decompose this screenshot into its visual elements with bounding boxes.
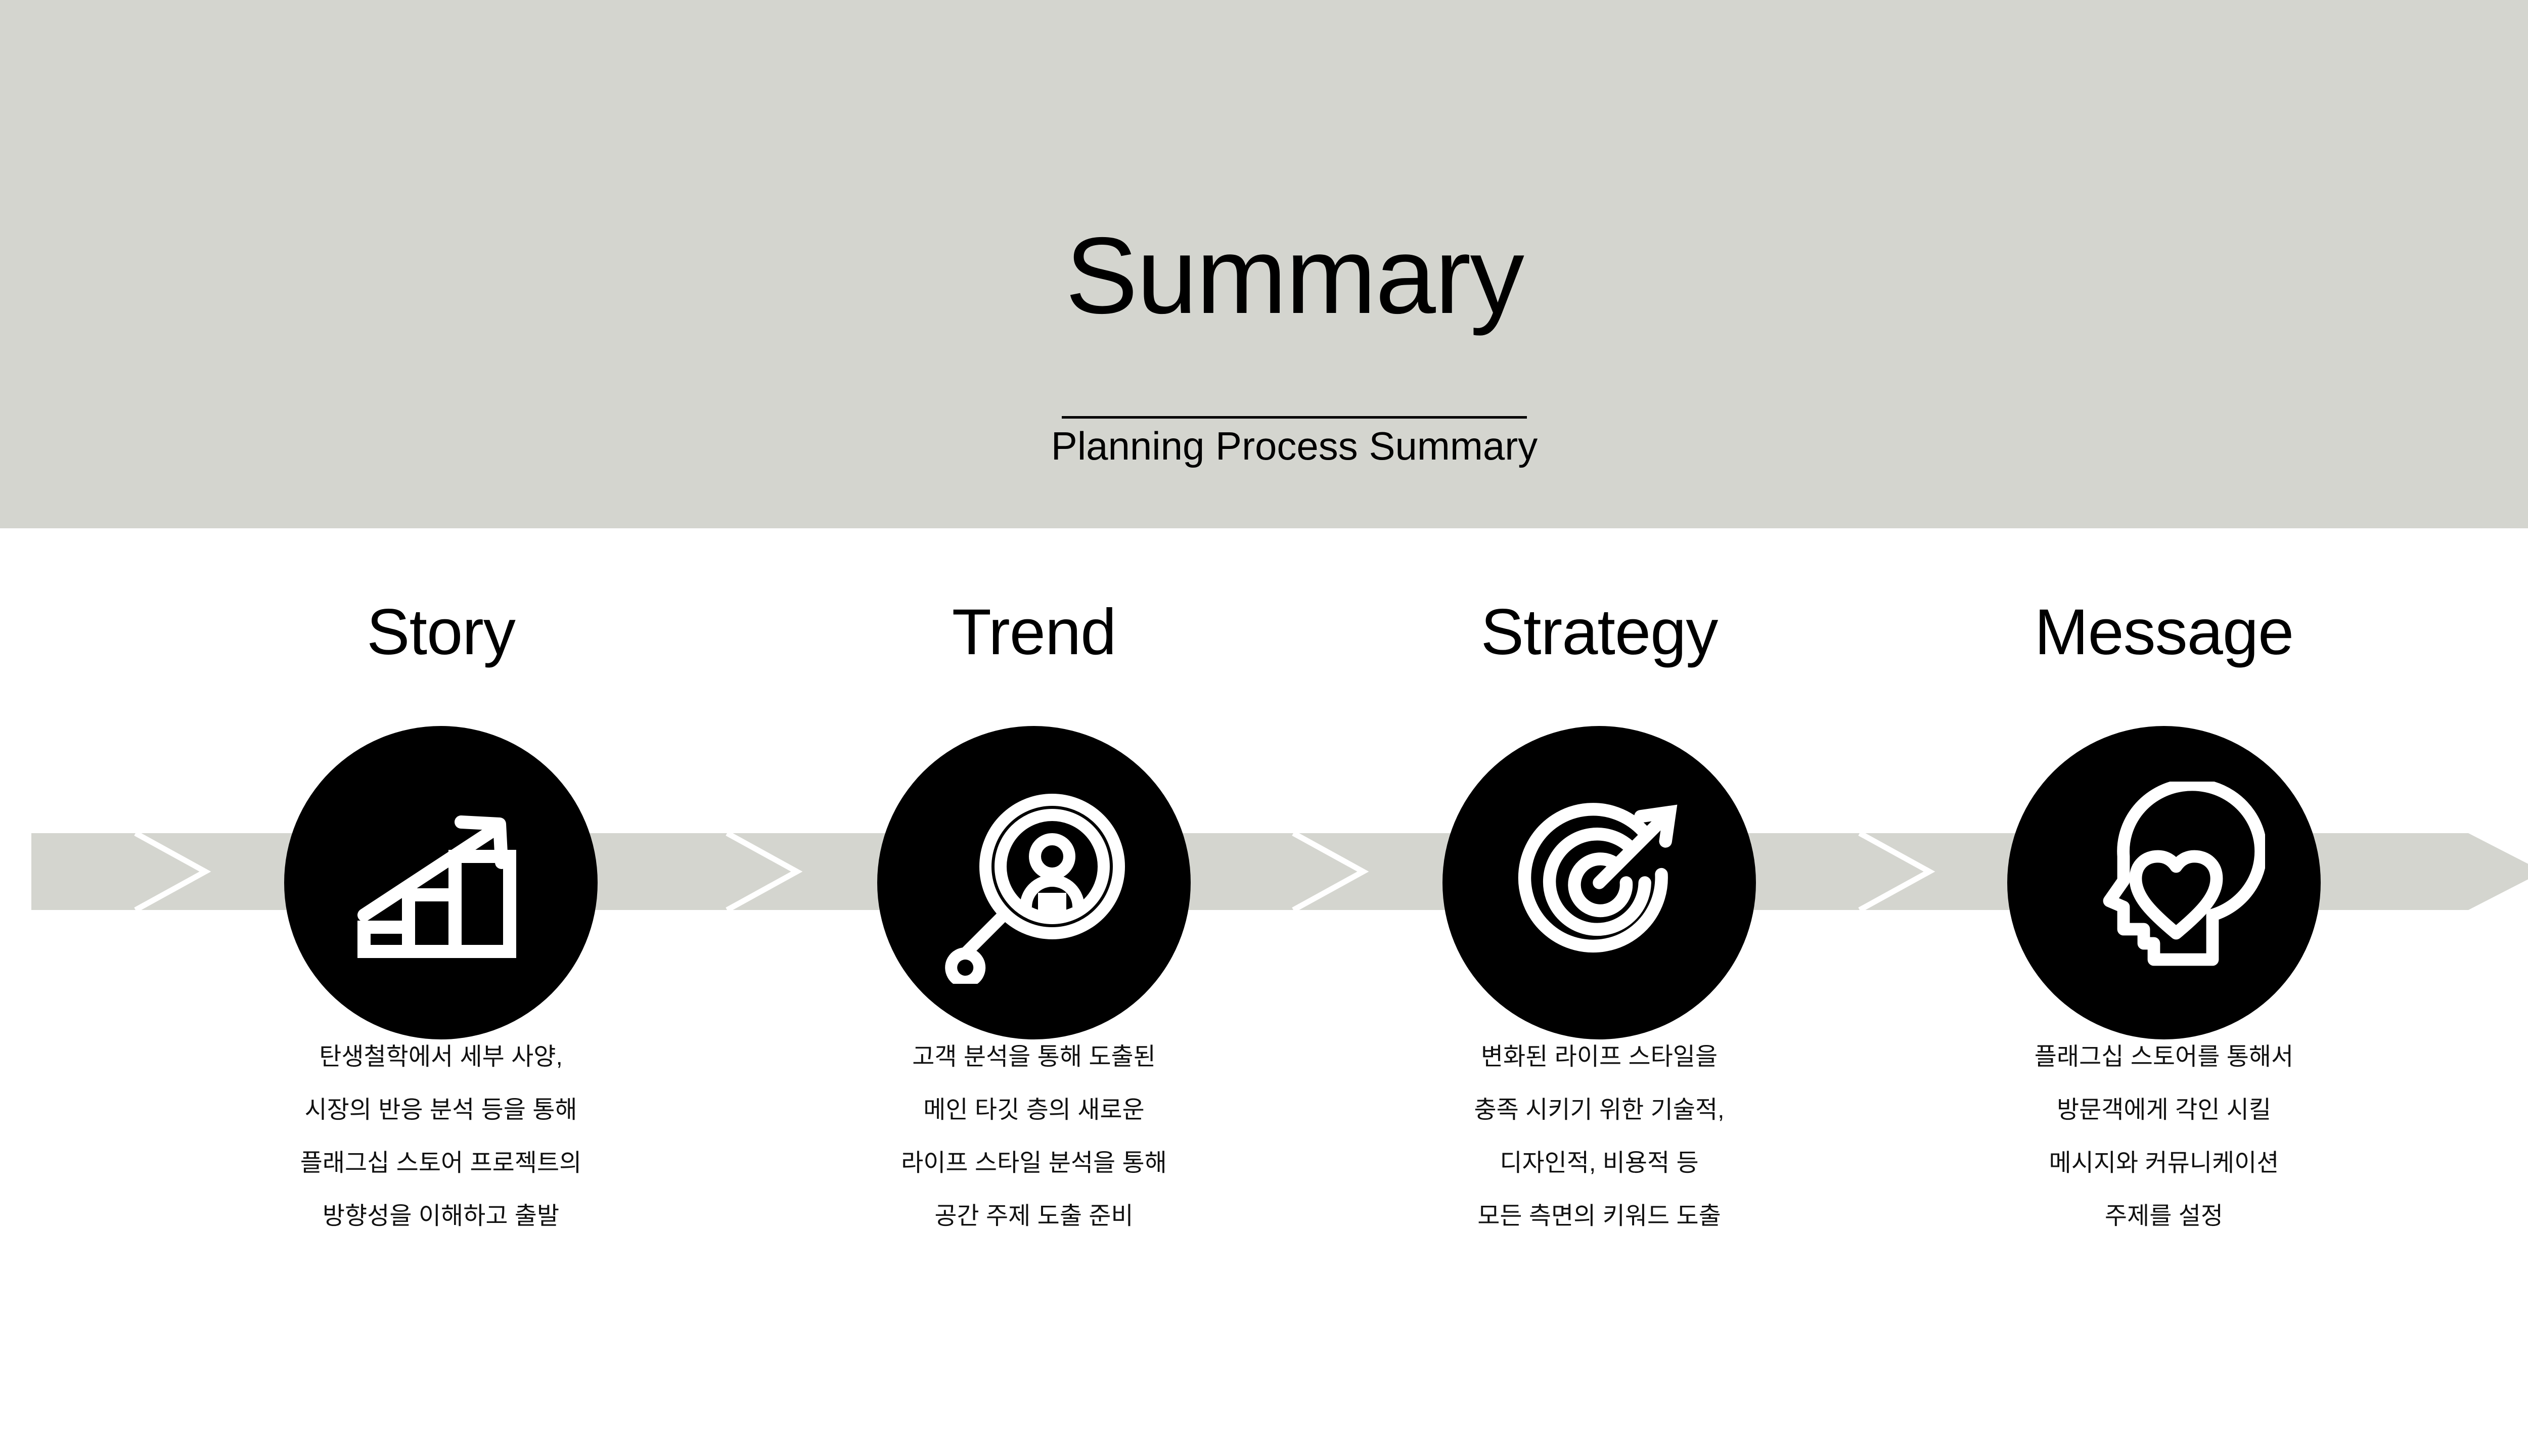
page-subtitle: Planning Process Summary xyxy=(0,405,2528,486)
target-arrow-icon xyxy=(1496,779,1703,986)
desc-line: 공간 주제 도출 준비 xyxy=(781,1190,1287,1243)
desc-line: 탄생철학에서 세부 사양, xyxy=(188,1030,694,1083)
step-icon-circle xyxy=(2007,726,2321,1039)
step-heading: Message xyxy=(1911,596,2417,669)
desc-line: 방향성을 이해하고 출발 xyxy=(188,1190,694,1243)
growth-chart-icon xyxy=(340,782,542,984)
step-heading: Strategy xyxy=(1346,596,1852,669)
desc-line: 모든 측면의 키워드 도출 xyxy=(1346,1190,1852,1243)
desc-line: 방문객에게 각인 시킬 xyxy=(1911,1083,2417,1136)
step-icon-circle xyxy=(1442,726,1756,1039)
desc-line: 주제를 설정 xyxy=(1911,1190,2417,1243)
step-description: 변화된 라이프 스타일을 충족 시키기 위한 기술적, 디자인적, 비용적 등 … xyxy=(1346,1030,1852,1243)
slide-canvas: Summary Planning Process Summary Story xyxy=(0,0,2528,1456)
magnifier-person-icon xyxy=(933,782,1135,984)
desc-line: 플래그십 스토어 프로젝트의 xyxy=(188,1136,694,1190)
desc-line: 충족 시키기 위한 기술적, xyxy=(1346,1083,1852,1136)
desc-line: 메시지와 커뮤니케이션 xyxy=(1911,1136,2417,1190)
head-heart-icon xyxy=(2063,782,2265,984)
page-title: Summary xyxy=(0,217,2528,334)
step-description: 플래그십 스토어를 통해서 방문객에게 각인 시킬 메시지와 커뮤니케이션 주제… xyxy=(1911,1030,2417,1243)
step-icon-circle xyxy=(284,726,598,1039)
desc-line: 디자인적, 비용적 등 xyxy=(1346,1136,1852,1190)
desc-line: 변화된 라이프 스타일을 xyxy=(1346,1030,1852,1083)
step-heading: Trend xyxy=(781,596,1287,669)
step-description: 고객 분석을 통해 도출된 메인 타깃 층의 새로운 라이프 스타일 분석을 통… xyxy=(781,1030,1287,1243)
step-icon-circle xyxy=(877,726,1191,1039)
desc-line: 라이프 스타일 분석을 통해 xyxy=(781,1136,1287,1190)
desc-line: 시장의 반응 분석 등을 통해 xyxy=(188,1083,694,1136)
desc-line: 플래그십 스토어를 통해서 xyxy=(1911,1030,2417,1083)
step-description: 탄생철학에서 세부 사양, 시장의 반응 분석 등을 통해 플래그십 스토어 프… xyxy=(188,1030,694,1243)
step-heading: Story xyxy=(188,596,694,669)
desc-line: 메인 타깃 층의 새로운 xyxy=(781,1083,1287,1136)
desc-line: 고객 분석을 통해 도출된 xyxy=(781,1030,1287,1083)
